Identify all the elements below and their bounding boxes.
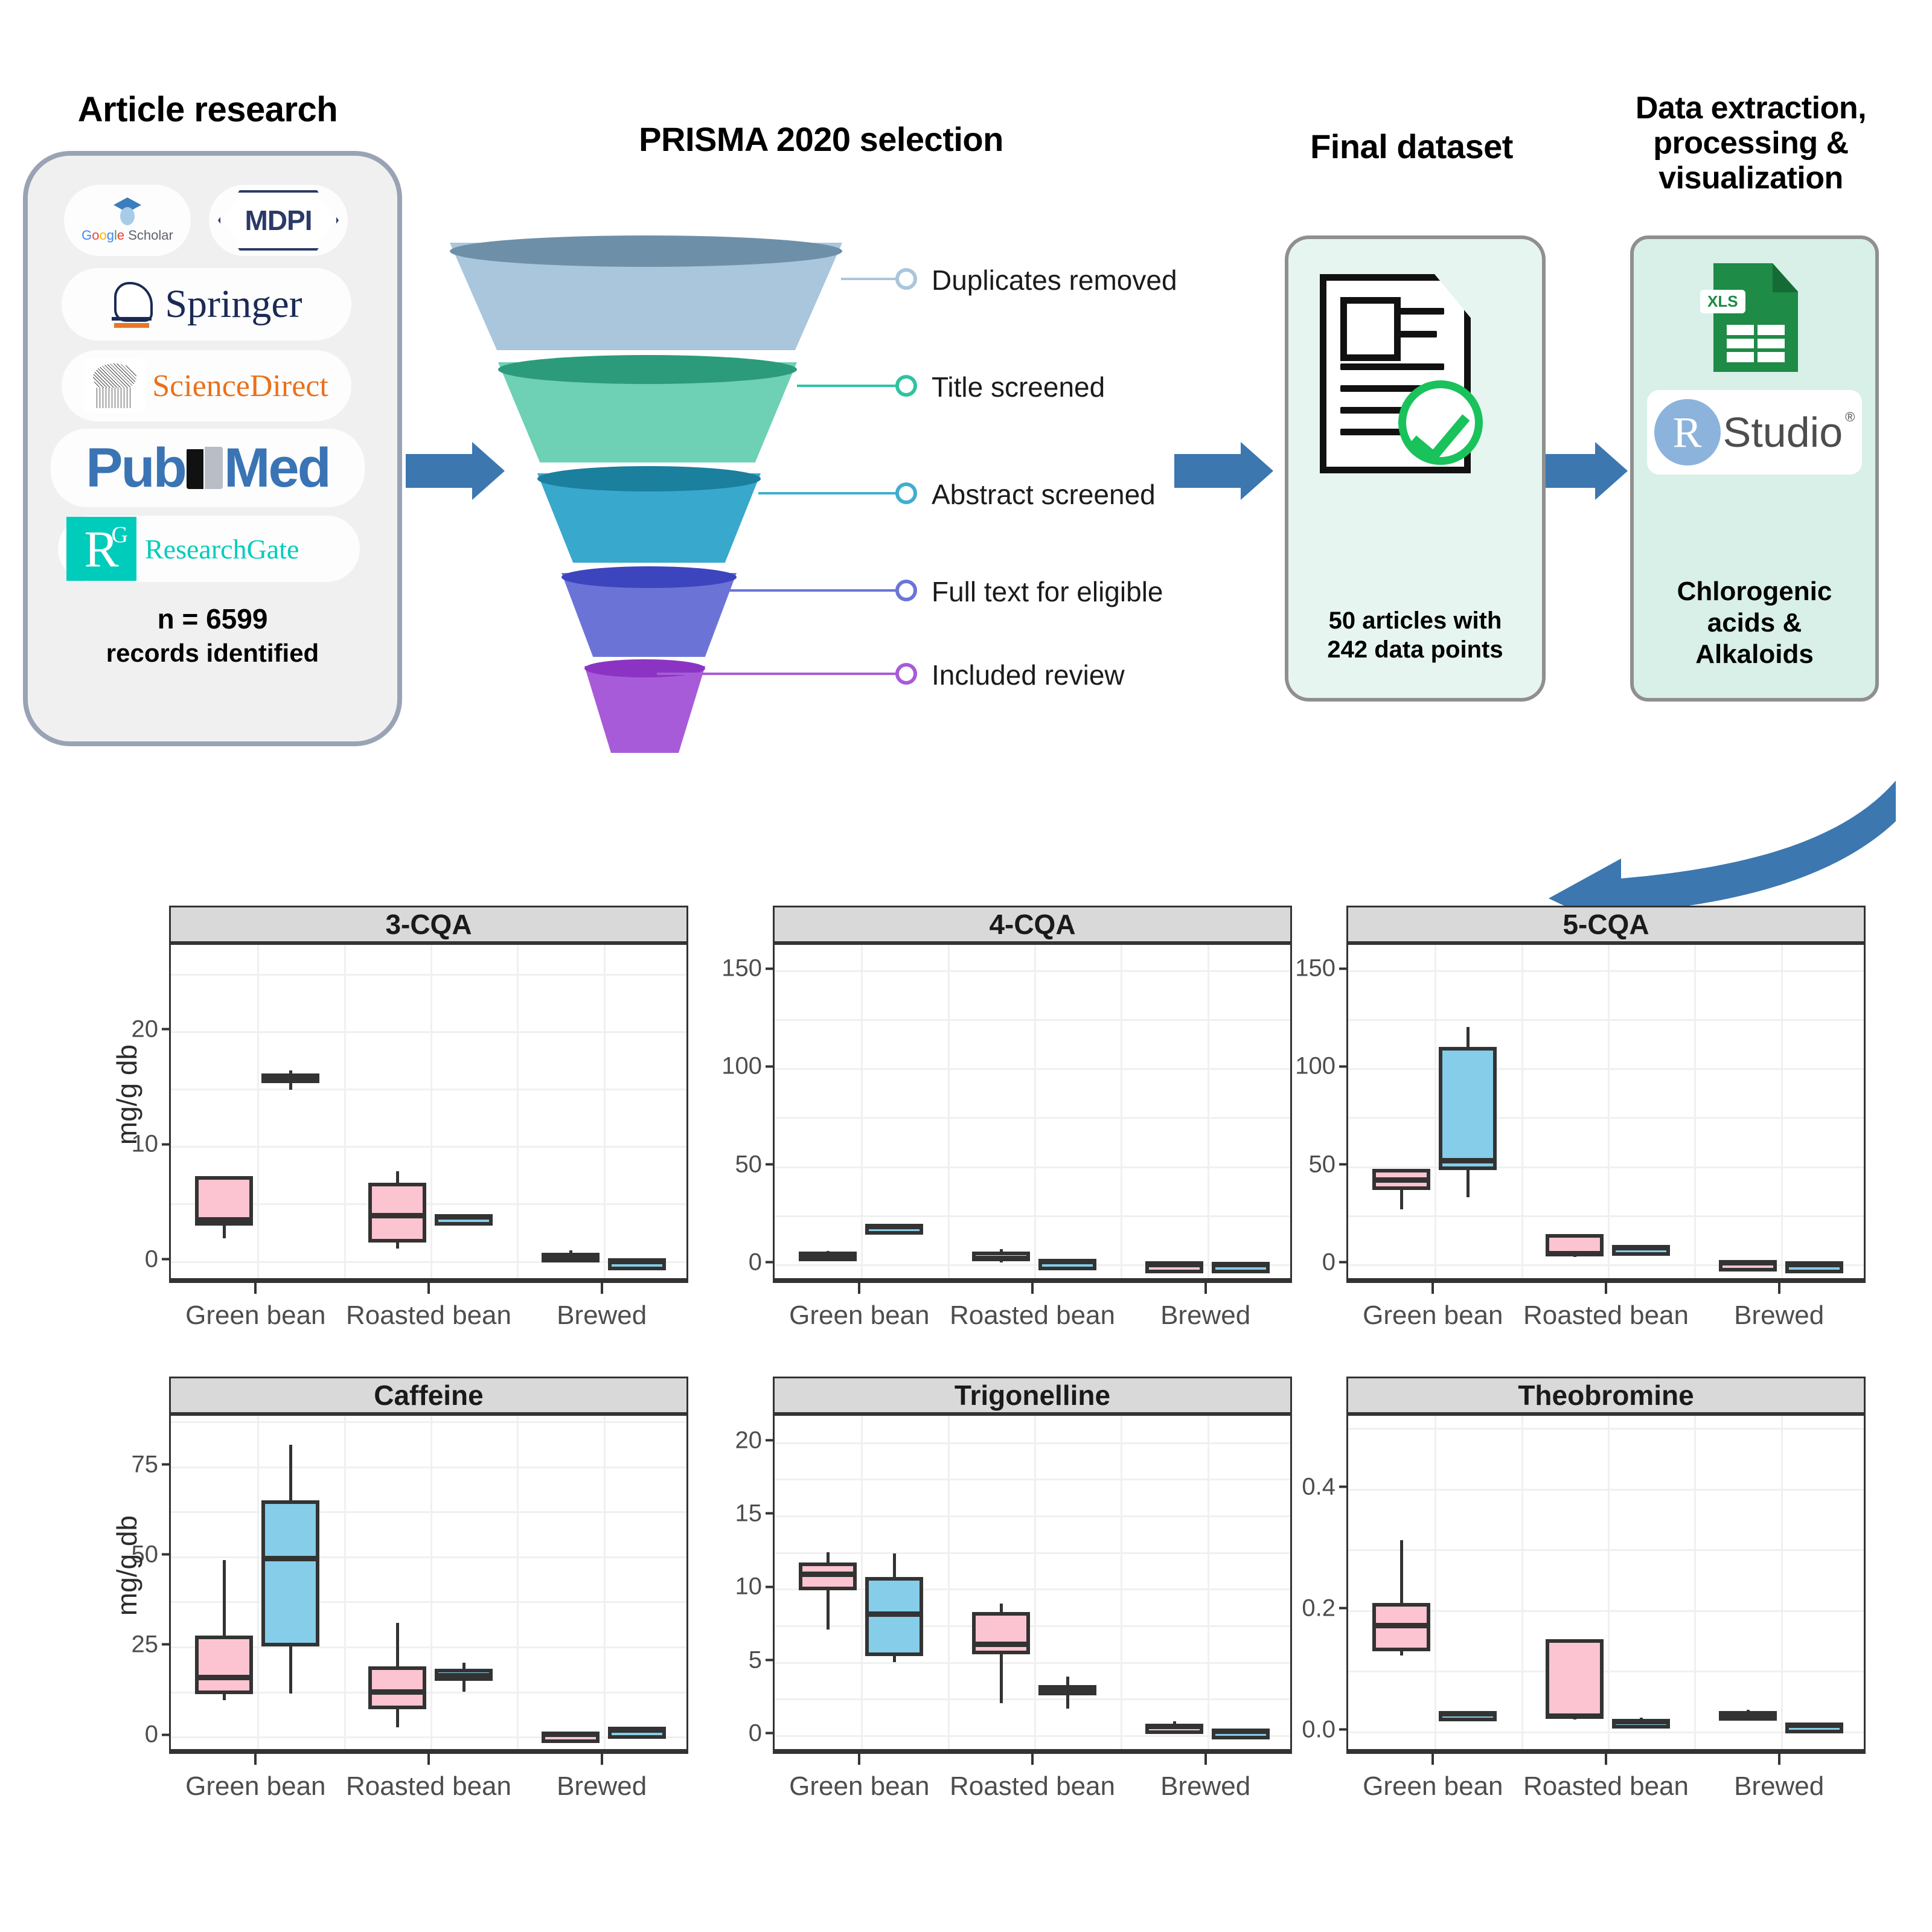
boxplot-median [1038, 1687, 1096, 1693]
x-axis-tick-label: Roasted bean [1523, 1300, 1689, 1331]
prisma-funnel [447, 235, 869, 646]
marker-fulltext [895, 580, 917, 601]
x-axis-tick-label: Brewed [557, 1771, 647, 1802]
x-axis-tick-label: Brewed [1734, 1771, 1824, 1802]
gridline-vertical [344, 1416, 346, 1749]
plot-panel [169, 1414, 688, 1751]
facet-4-cqa: 4-CQA050100150Green beanRoasted beanBrew… [773, 906, 1292, 1280]
gridline-vertical [1781, 1416, 1783, 1749]
arrow-final-to-extraction [1546, 423, 1642, 519]
gridline-horizontal [1348, 970, 1864, 972]
boxplot-median [261, 1076, 319, 1081]
gridline-horizontal [775, 1515, 1290, 1517]
boxplot-median [865, 1611, 923, 1617]
boxplot-median [1785, 1722, 1843, 1728]
plot-panel [773, 1414, 1292, 1751]
records-count-label: records identified [28, 639, 397, 668]
y-axis-tick-label: 5 [749, 1646, 773, 1674]
final-caption-line2: 242 data points [1288, 635, 1542, 664]
extraction-section-title: Data extraction, processing & visualizat… [1618, 91, 1884, 196]
funnel-label-duplicates-removed: Duplicates removed [932, 264, 1177, 296]
boxplot-iqr [1439, 1047, 1497, 1170]
y-axis-title: mg/g db [110, 974, 143, 1215]
springer-logo: Springer [62, 268, 351, 341]
google-scholar-logo: Google Scholar [64, 185, 191, 256]
book-icon [187, 446, 223, 490]
facet-strip-label: Caffeine [169, 1377, 688, 1414]
boxplot-median [368, 1689, 426, 1695]
gridline-horizontal [775, 1662, 1290, 1664]
researchgate-mark: R G [66, 517, 136, 581]
gridline-vertical [1521, 945, 1523, 1278]
boxplot-median [608, 1258, 666, 1264]
leader-line-duplicates [841, 278, 897, 280]
gridline-vertical [517, 1416, 519, 1749]
researchgate-logo: R G ResearchGate [58, 516, 360, 582]
x-axis-tick-label: Brewed [557, 1300, 647, 1331]
gridline-vertical [1034, 945, 1036, 1278]
research-section-title: Article research [23, 91, 392, 130]
x-axis-tick [858, 1283, 860, 1294]
gridline-horizontal [171, 1089, 686, 1090]
gridline-vertical [1121, 945, 1122, 1278]
gridline-vertical [517, 945, 519, 1278]
y-axis-title: mg/g db [110, 1445, 143, 1686]
gridline-horizontal [171, 1511, 686, 1513]
boxplot-iqr [368, 1666, 426, 1710]
springer-wordmark: Springer [165, 281, 302, 327]
gridline-vertical [1781, 945, 1783, 1278]
gridline-vertical [430, 945, 432, 1278]
x-axis-tick [254, 1754, 257, 1765]
x-axis-tick-label: Roasted bean [1523, 1771, 1689, 1802]
boxplot-iqr [972, 1612, 1030, 1654]
boxplot-median [542, 1732, 600, 1737]
boxplot-median [435, 1214, 493, 1220]
x-axis-tick-label: Green bean [185, 1300, 325, 1331]
sciencedirect-logo: ScienceDirect [62, 350, 351, 421]
boxplot-iqr [1546, 1639, 1604, 1718]
funnel-label-included-review: Included review [932, 659, 1125, 691]
x-axis-tick [1204, 1754, 1207, 1765]
plot-panel [1346, 1414, 1866, 1751]
article-research-card: Google Scholar MDPI Springer ScienceDire… [23, 151, 402, 746]
funnel-slice-abstract-screened[interactable] [537, 466, 761, 563]
boxplot-median [1372, 1177, 1430, 1183]
gridline-horizontal [775, 1442, 1290, 1444]
facet-strip-label: 3-CQA [169, 906, 688, 943]
x-axis-tick-label: Green bean [1363, 1771, 1503, 1802]
leader-line-included [657, 673, 897, 675]
funnel-slice-title-screened[interactable] [498, 355, 797, 462]
gridline-horizontal [171, 1556, 686, 1558]
gridline-vertical [1694, 945, 1696, 1278]
marker-included [895, 663, 917, 685]
y-axis-tick-label: 0.4 [1302, 1473, 1346, 1500]
y-axis-tick-label: 0 [145, 1246, 169, 1273]
rstudio-wordmark: Studio [1723, 408, 1843, 456]
facet-5-cqa: 5-CQA050100150Green beanRoasted beanBrew… [1346, 906, 1866, 1280]
gridline-vertical [1521, 1416, 1523, 1749]
boxplot-median [1439, 1711, 1497, 1716]
gridline-horizontal [1348, 1489, 1864, 1491]
leader-line-abstract [758, 492, 897, 494]
x-axis-tick [858, 1754, 860, 1765]
leader-line-title [797, 385, 897, 387]
r-circle-icon: R [1654, 399, 1721, 465]
pubmed-wordmark: PubMed [86, 437, 330, 500]
boxplot-median [972, 1256, 1030, 1261]
boxplot-iqr [261, 1500, 319, 1646]
graduation-cap-icon [111, 197, 144, 226]
researchgate-wordmark: ResearchGate [145, 533, 299, 565]
gridline-vertical [861, 945, 863, 1278]
y-axis-tick-label: 100 [1295, 1053, 1346, 1080]
x-axis-tick-label: Roasted bean [950, 1771, 1115, 1802]
gridline-horizontal [1348, 1428, 1864, 1430]
y-axis-tick-label: 0 [145, 1721, 169, 1748]
y-axis-tick-label: 15 [735, 1500, 773, 1527]
final-caption-line1: 50 articles with [1288, 606, 1542, 635]
x-axis-tick [1605, 1754, 1607, 1765]
x-axis-tick [1778, 1754, 1780, 1765]
boxplot-median [865, 1224, 923, 1229]
gridline-vertical [430, 1416, 432, 1749]
boxplot-median [368, 1213, 426, 1218]
funnel-label-full-text: Full text for eligible [932, 575, 1163, 608]
gridline-horizontal [775, 1019, 1290, 1021]
x-axis-tick-label: Roasted bean [346, 1771, 511, 1802]
plot-panel [1346, 943, 1866, 1280]
boxplot-median [1372, 1623, 1430, 1628]
document-icon [1320, 274, 1471, 473]
boxplot-median [799, 1252, 857, 1258]
gridline-horizontal [1348, 1019, 1864, 1021]
boxplot-median [195, 1217, 253, 1223]
xls-file-icon: XLS [1713, 263, 1798, 372]
x-axis-tick-label: Brewed [1734, 1300, 1824, 1331]
gridline-horizontal [1348, 1671, 1864, 1672]
marker-title [895, 375, 917, 397]
gridline-horizontal [1348, 1166, 1864, 1168]
boxplot-median [799, 1572, 857, 1577]
y-axis-tick-label: 50 [1309, 1151, 1347, 1178]
gridline-vertical [1608, 1416, 1610, 1749]
x-axis-tick [1431, 1283, 1434, 1294]
gridline-horizontal [775, 1166, 1290, 1168]
y-axis-tick-label: 10 [735, 1573, 773, 1601]
boxplot-median [1212, 1729, 1270, 1734]
x-axis-tick [427, 1283, 430, 1294]
gridline-horizontal [775, 1117, 1290, 1119]
facet-strip-label: 4-CQA [773, 906, 1292, 943]
boxplot-median [542, 1255, 600, 1260]
facet-3-cqa: 3-CQA01020mg/g dbGreen beanRoasted beanB… [169, 906, 688, 1280]
boxplot-median [1785, 1261, 1843, 1267]
y-axis-tick-label: 150 [721, 955, 773, 982]
plot-panel [169, 943, 688, 1280]
gridline-horizontal [1348, 1549, 1864, 1551]
pubmed-logo: PubMed [51, 429, 365, 507]
y-axis-tick-label: 100 [721, 1053, 773, 1080]
rstudio-r-letter: R [1673, 408, 1702, 458]
funnel-label-abstract-screened: Abstract screened [932, 478, 1156, 511]
boxplot-median [1546, 1713, 1604, 1719]
funnel-slice-full-text[interactable] [561, 566, 737, 657]
boxplot-median [1612, 1719, 1670, 1724]
rstudio-logo: R Studio ® [1647, 390, 1862, 475]
gridline-vertical [1435, 1416, 1436, 1749]
gridline-vertical [604, 1416, 606, 1749]
facet-theobromine: Theobromine0.00.20.4Green beanRoasted be… [1346, 1377, 1866, 1751]
x-axis-tick [1605, 1283, 1607, 1294]
gridline-horizontal [775, 1625, 1290, 1627]
y-axis-tick-label: 0 [749, 1249, 773, 1276]
extraction-caption-line1: Chlorogenic [1634, 576, 1875, 607]
gridline-vertical [257, 1416, 259, 1749]
boxplot-median [1038, 1259, 1096, 1264]
marker-duplicates [895, 268, 917, 290]
gridline-vertical [257, 945, 259, 1278]
tree-icon [85, 359, 145, 413]
gridline-vertical [1207, 945, 1209, 1278]
x-axis-tick-label: Brewed [1160, 1300, 1250, 1331]
sciencedirect-wordmark: ScienceDirect [152, 368, 328, 404]
gridline-vertical [604, 945, 606, 1278]
boxplot-median [435, 1673, 493, 1678]
plot-panel [773, 943, 1292, 1280]
x-axis-tick-label: Brewed [1160, 1771, 1250, 1802]
x-axis-tick-label: Green bean [789, 1771, 929, 1802]
prisma-section-title: PRISMA 2020 selection [604, 121, 1038, 159]
gridline-horizontal [1348, 1117, 1864, 1119]
gridline-horizontal [171, 1467, 686, 1468]
final-dataset-caption: 50 articles with 242 data points [1288, 606, 1542, 664]
facet-strip-label: 5-CQA [1346, 906, 1866, 943]
gridline-vertical [861, 1416, 863, 1749]
boxplot-median [1612, 1245, 1670, 1250]
funnel-label-title-screened: Title screened [932, 371, 1105, 403]
knight-icon [110, 281, 154, 328]
gridline-horizontal [775, 1552, 1290, 1554]
facet-strip-label: Trigonelline [773, 1377, 1292, 1414]
x-axis-tick [601, 1283, 603, 1294]
gridline-vertical [1694, 1416, 1696, 1749]
leader-line-fulltext [718, 589, 897, 592]
gridline-horizontal [171, 1601, 686, 1603]
x-axis-tick [1431, 1754, 1434, 1765]
google-scholar-wordmark: Google Scholar [82, 228, 173, 243]
facet-trigonelline: Trigonelline05101520Green beanRoasted be… [773, 1377, 1292, 1751]
gridline-vertical [948, 945, 950, 1278]
gridline-horizontal [1348, 1068, 1864, 1070]
gridline-horizontal [775, 1479, 1290, 1480]
boxplot-iqr [195, 1636, 253, 1694]
gridline-vertical [344, 945, 346, 1278]
records-count: n = 6599 [28, 603, 397, 635]
extraction-caption-line2: acids & [1634, 607, 1875, 639]
gridline-horizontal [171, 1146, 686, 1148]
gridline-vertical [1608, 945, 1610, 1278]
y-axis-tick-label: 0 [749, 1719, 773, 1747]
mdpi-wordmark: MDPI [218, 190, 339, 251]
facet-strip-label: Theobromine [1346, 1377, 1866, 1414]
boxplot-median [1719, 1712, 1777, 1718]
arrow-prisma-to-final [1174, 423, 1289, 519]
extraction-title-line2: processing & [1618, 126, 1884, 161]
extraction-caption-line3: Alkaloids [1634, 639, 1875, 670]
x-axis-tick [427, 1754, 430, 1765]
y-axis-tick-label: 150 [1295, 955, 1346, 982]
registered-mark: ® [1845, 409, 1855, 425]
gridline-vertical [1121, 1416, 1122, 1749]
gridline-horizontal [1348, 1215, 1864, 1217]
gridline-horizontal [775, 1068, 1290, 1070]
marker-abstract [895, 482, 917, 504]
funnel-slice-duplicates-removed[interactable] [450, 235, 842, 350]
x-axis-tick-label: Roasted bean [346, 1300, 511, 1331]
gridline-horizontal [775, 1698, 1290, 1700]
boxplot-median [1145, 1724, 1203, 1729]
gridline-horizontal [775, 970, 1290, 972]
x-axis-tick-label: Green bean [1363, 1300, 1503, 1331]
x-axis-tick-label: Green bean [789, 1300, 929, 1331]
mdpi-logo: MDPI [209, 185, 348, 256]
gridline-horizontal [171, 1031, 686, 1033]
boxplot-median [1439, 1158, 1497, 1163]
gridline-vertical [948, 1416, 950, 1749]
boxplot-median [608, 1727, 666, 1732]
extraction-caption: Chlorogenic acids & Alkaloids [1634, 576, 1875, 670]
y-axis-tick-label: 0.0 [1302, 1716, 1346, 1743]
x-axis-tick-label: Green bean [185, 1771, 325, 1802]
y-axis-tick-label: 50 [735, 1151, 773, 1178]
final-section-title: Final dataset [1261, 128, 1563, 166]
y-axis-tick-label: 0.2 [1302, 1595, 1346, 1622]
extraction-title-line1: Data extraction, [1618, 91, 1884, 126]
x-axis-tick-label: Roasted bean [950, 1300, 1115, 1331]
boxplot-median [1546, 1251, 1604, 1256]
facet-caffeine: Caffeine0255075mg/g dbGreen beanRoasted … [169, 1377, 688, 1751]
gridline-horizontal [171, 1421, 686, 1423]
boxplot-median [1212, 1262, 1270, 1267]
boxplot-median [1719, 1260, 1777, 1265]
curved-arrow-to-charts [1437, 682, 1896, 936]
boxplot-median [972, 1642, 1030, 1647]
gridline-vertical [1207, 1416, 1209, 1749]
gridline-horizontal [171, 974, 686, 976]
x-axis-tick [601, 1754, 603, 1765]
boxplot-median [195, 1675, 253, 1680]
check-circle-icon [1398, 380, 1483, 465]
x-axis-tick [254, 1283, 257, 1294]
x-axis-tick [1031, 1754, 1034, 1765]
boxplot-median [1145, 1261, 1203, 1267]
boxplot-median [261, 1556, 319, 1561]
gridline-vertical [1435, 945, 1436, 1278]
gridline-vertical [1034, 1416, 1036, 1749]
x-axis-tick [1031, 1283, 1034, 1294]
x-axis-tick [1778, 1283, 1780, 1294]
gridline-horizontal [775, 1215, 1290, 1217]
final-dataset-card: 50 articles with 242 data points [1285, 235, 1546, 702]
xls-tag-label: XLS [1700, 290, 1745, 313]
x-axis-tick [1204, 1283, 1207, 1294]
y-axis-tick-label: 20 [735, 1427, 773, 1454]
data-extraction-card: XLS R Studio ® Chlorogenic acids & Alkal… [1630, 235, 1879, 702]
y-axis-tick-label: 0 [1322, 1249, 1346, 1276]
extraction-title-line3: visualization [1618, 161, 1884, 196]
